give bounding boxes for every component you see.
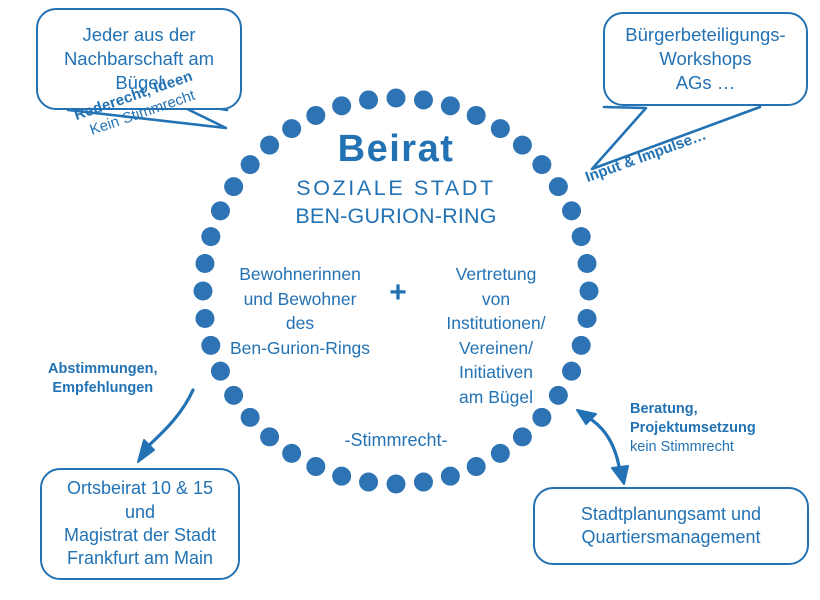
ring-dot	[513, 136, 532, 155]
diagram-subtitle-2: BEN-GURION-RING	[276, 204, 516, 229]
arrow-label-beratung-line2: Projektumsetzung	[630, 419, 756, 438]
arrow-beratung-head-down	[612, 466, 628, 484]
ring-dot	[441, 467, 460, 486]
ring-dot	[224, 177, 243, 196]
ring-dot	[359, 90, 378, 109]
ring-dot	[562, 201, 581, 220]
callout-participation-text: Bürgerbeteiligungs-WorkshopsAGs …	[605, 23, 806, 95]
member-group-residents: Bewohnerinnenund BewohnerdesBen-Gurion-R…	[212, 262, 388, 360]
ring-dot	[491, 444, 510, 463]
ring-dot	[306, 457, 325, 476]
callout-stadtplanung-text: Stadtplanungsamt undQuartiersmanagement	[535, 503, 807, 550]
arrow-abstimmungen	[146, 390, 193, 448]
ring-dot	[260, 427, 279, 446]
ring-dot	[332, 96, 351, 115]
diagram-title: Beirat	[296, 128, 496, 171]
arrow-label-abstimmungen: Abstimmungen, Empfehlungen	[48, 360, 158, 398]
arrow-label-beratung-line3: kein Stimmrecht	[630, 438, 756, 457]
diagram-canvas: Jeder aus derNachbarschaft amBügel Bürge…	[0, 0, 820, 600]
ring-dot	[387, 475, 406, 494]
voting-rights-note: -Stimmrecht-	[306, 430, 486, 451]
diagram-subtitle: SOZIALE STADT	[276, 176, 516, 201]
ring-dot	[387, 89, 406, 108]
arrow-label-beratung: Beratung, Projektumsetzung kein Stimmrec…	[630, 400, 756, 457]
ring-dot	[332, 467, 351, 486]
ring-dot	[359, 473, 378, 492]
ring-dot	[572, 227, 591, 246]
ring-dot	[241, 155, 260, 174]
callout-ortsbeirat: Ortsbeirat 10 & 15undMagistrat der Stadt…	[40, 468, 240, 580]
ring-dot	[414, 90, 433, 109]
ring-dot	[194, 282, 213, 301]
connector-label-input-text: Input & Impulse…	[583, 126, 709, 187]
ring-dot	[532, 155, 551, 174]
ring-dot	[282, 444, 301, 463]
arrow-beratung-head-up	[577, 410, 596, 424]
arrow-label-abstimmungen-line1: Abstimmungen,	[48, 360, 158, 379]
ring-dot	[201, 227, 220, 246]
ring-dot	[260, 136, 279, 155]
ring-dot	[467, 106, 486, 125]
ring-dot	[549, 177, 568, 196]
ring-dot	[441, 96, 460, 115]
ring-dot	[224, 386, 243, 405]
callout-stadtplanung: Stadtplanungsamt undQuartiersmanagement	[533, 487, 809, 565]
ring-dot	[467, 457, 486, 476]
arrow-abstimmungen-head	[138, 440, 154, 462]
callout-ortsbeirat-text: Ortsbeirat 10 & 15undMagistrat der Stadt…	[42, 477, 238, 571]
ring-dot	[306, 106, 325, 125]
ring-dot	[211, 362, 230, 381]
arrow-beratung	[586, 416, 620, 472]
connector-label-input: Input & Impulse…	[583, 126, 709, 187]
ring-dot	[513, 427, 532, 446]
arrow-label-beratung-line1: Beratung,	[630, 400, 756, 419]
ring-dot	[241, 408, 260, 427]
ring-dot	[532, 408, 551, 427]
callout-participation: Bürgerbeteiligungs-WorkshopsAGs …	[603, 12, 808, 106]
arrow-label-abstimmungen-line2: Empfehlungen	[48, 379, 158, 398]
ring-dot	[211, 201, 230, 220]
ring-dot	[414, 473, 433, 492]
member-group-institutions: VertretungvonInstitutionen/Vereinen/Init…	[408, 262, 584, 409]
